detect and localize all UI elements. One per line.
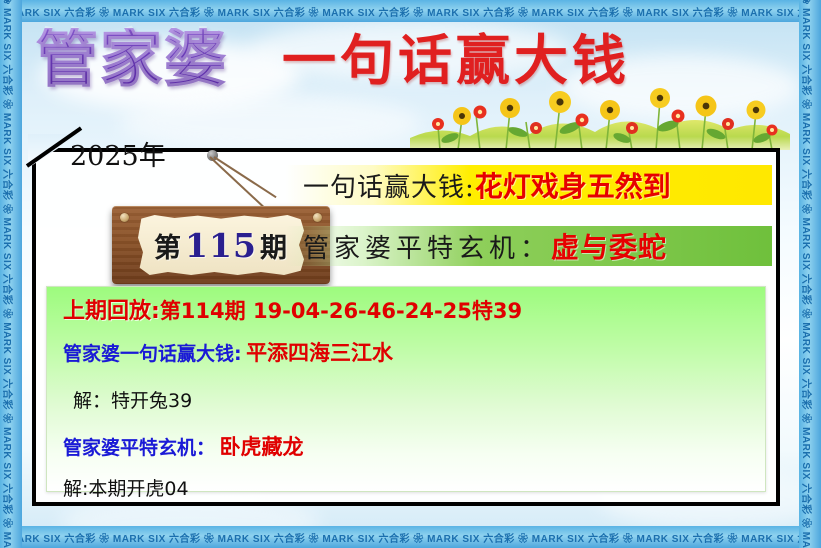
border-right: ❀ MARK SIX 六合彩 ❀ MARK SIX 六合彩 ❀ MARK SIX…: [799, 0, 821, 548]
brand-title: 管家婆: [36, 28, 228, 90]
banner-row-slogan: 一句话赢大钱:花灯戏身五然到: [285, 165, 772, 205]
issue-number: 115: [182, 226, 260, 265]
screw-icon: [313, 213, 322, 222]
flower-grass-decoration: [410, 88, 790, 150]
issue-prefix: 第: [154, 233, 182, 264]
paper-scroll: 第115期: [138, 215, 304, 275]
banner-label: 管家婆平特玄机：: [303, 228, 551, 265]
border-text: ❀ MARK SIX 六合彩 ❀ MARK SIX 六合彩 ❀ MARK SIX…: [0, 4, 821, 19]
banner-value: 花灯戏身五然到: [475, 165, 671, 205]
slogan-title: 一句话赢大钱: [282, 33, 630, 87]
border-text: ❀ MARK SIX 六合彩 ❀ MARK SIX 六合彩 ❀ MARK SIX…: [0, 530, 821, 545]
tips-value: 卧虎藏龙: [219, 435, 303, 459]
poster-canvas: 管家婆 一句话赢大钱: [0, 0, 821, 548]
banner-label: 一句话赢大钱:: [303, 167, 475, 204]
issue-suffix: 期: [260, 233, 288, 264]
border-text: ❀ MARK SIX 六合彩 ❀ MARK SIX 六合彩 ❀ MARK SIX…: [1, 0, 16, 548]
slogan-label: 管家婆一句话赢大钱:: [63, 343, 242, 365]
banner-row-tips: 管家婆平特玄机：虚与委蛇: [285, 226, 772, 266]
replay-value: 第114期 19-04-26-46-24-25特39: [160, 299, 522, 323]
border-top: ❀ MARK SIX 六合彩 ❀ MARK SIX 六合彩 ❀ MARK SIX…: [0, 0, 821, 22]
border-text: ❀ MARK SIX 六合彩 ❀ MARK SIX 六合彩 ❀ MARK SIX…: [800, 0, 815, 548]
result-row-explain-1: 解：特开兔39: [63, 370, 749, 411]
screw-icon: [120, 213, 129, 222]
rope-left: [209, 156, 264, 208]
slogan-value: 平添四海三江水: [246, 341, 393, 365]
banner-value: 虚与委蛇: [551, 226, 667, 266]
issue-number-text: 第115期: [154, 226, 288, 265]
result-row-explain-2: 解:本期开虎04: [63, 464, 749, 499]
border-bottom: ❀ MARK SIX 六合彩 ❀ MARK SIX 六合彩 ❀ MARK SIX…: [0, 526, 821, 548]
tips-label: 管家婆平特玄机：: [63, 437, 215, 459]
border-left: ❀ MARK SIX 六合彩 ❀ MARK SIX 六合彩 ❀ MARK SIX…: [0, 0, 22, 548]
results-panel: 上期回放:第114期 19-04-26-46-24-25特39 管家婆一句话赢大…: [46, 286, 766, 492]
result-row-slogan: 管家婆一句话赢大钱: 平添四海三江水: [63, 329, 749, 364]
result-row-replay: 上期回放:第114期 19-04-26-46-24-25特39: [63, 297, 749, 323]
explain-text: 解:本期开虎04: [63, 478, 189, 500]
explain-text: 解：特开兔39: [73, 390, 192, 412]
result-row-tips: 管家婆平特玄机： 卧虎藏龙: [63, 417, 749, 458]
replay-label: 上期回放:: [63, 299, 160, 324]
year-label: 2025年: [70, 134, 166, 173]
